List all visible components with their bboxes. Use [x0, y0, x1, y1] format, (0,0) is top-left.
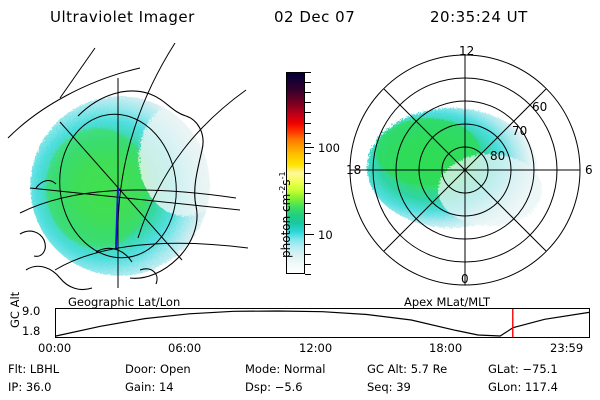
- status-label: IP:: [8, 380, 26, 394]
- status-label: GLon:: [488, 380, 525, 394]
- strip-chart-xtick-1: 06:00: [168, 341, 201, 355]
- colorbar-tick-label-100: 100: [318, 141, 340, 155]
- colorbar-label-main: photon cm: [279, 194, 293, 258]
- geographic-globe-svg: [0, 38, 250, 296]
- mlt-label-bottom: 0: [461, 272, 469, 286]
- mlt-label-right: 6: [585, 163, 593, 177]
- strip-chart-xtick-0: 00:00: [38, 341, 71, 355]
- polar-lat-label-60: 60: [532, 100, 547, 114]
- status-value: 39: [396, 380, 411, 394]
- status-flt: Flt: LBHL: [8, 362, 59, 376]
- status-value: −5.6: [275, 380, 303, 394]
- status-block: Flt: LBHLDoor: OpenMode: NormalGC Alt: 5…: [0, 362, 600, 398]
- polar-plot-svg: 60 70 80: [340, 40, 600, 295]
- mlt-label-left: 18: [346, 163, 361, 177]
- polar-lat-label-70: 70: [512, 124, 527, 138]
- header-date: 02 Dec 07: [274, 8, 355, 26]
- status-label: GLat:: [488, 362, 522, 376]
- strip-chart-xtick-4: 23:59: [550, 341, 583, 355]
- orbit-altitude-curve: [56, 311, 589, 336]
- strip-chart-ytick-bottom: 1.8: [22, 324, 40, 338]
- status-value: 5.7 Re: [411, 362, 448, 376]
- status-gain: Gain: 14: [125, 380, 174, 394]
- status-dsp: Dsp: −5.6: [245, 380, 303, 394]
- header-time: 20:35:24 UT: [430, 8, 528, 26]
- strip-chart-ytick-top: 9.0: [22, 304, 40, 318]
- status-value: 14: [159, 380, 174, 394]
- status-glon: GLon: 117.4: [488, 380, 558, 394]
- polar-lat-label-80: 80: [490, 149, 505, 163]
- strip-chart-plot[interactable]: [55, 308, 590, 338]
- status-glat: GLat: −75.1: [488, 362, 558, 376]
- status-value: LBHL: [30, 362, 59, 376]
- uvi-screenshot: Ultraviolet Imager 02 Dec 07 20:35:24 UT: [0, 0, 600, 400]
- strip-chart-xtick-3: 18:00: [429, 341, 462, 355]
- colorbar-tick-label-10: 10: [318, 228, 333, 242]
- status-label: Gain:: [125, 380, 159, 394]
- status-value: Open: [160, 362, 191, 376]
- status-gcalt: GC Alt: 5.7 Re: [367, 362, 447, 376]
- status-label: Mode:: [245, 362, 284, 376]
- status-label: Seq:: [367, 380, 396, 394]
- status-value: 117.4: [525, 380, 558, 394]
- header-instrument: Ultraviolet Imager: [50, 8, 195, 26]
- geographic-globe-panel[interactable]: [0, 38, 250, 296]
- strip-chart-xtick-2: 12:00: [299, 341, 332, 355]
- status-label: Dsp:: [245, 380, 275, 394]
- colorbar-major-tick-0: [305, 147, 314, 149]
- status-door: Door: Open: [125, 362, 191, 376]
- status-label: Flt:: [8, 362, 30, 376]
- right-panel-title: Apex MLat/MLT: [404, 295, 490, 309]
- status-value: 36.0: [26, 380, 52, 394]
- colorbar-ticks: [305, 72, 315, 274]
- colorbar-label-mid: s: [279, 179, 293, 185]
- strip-chart-svg: [56, 309, 589, 337]
- status-value: −75.1: [522, 362, 557, 376]
- colorbar-major-tick-1: [305, 234, 314, 236]
- polar-mlat-mlt-panel[interactable]: 60 70 80: [340, 40, 600, 295]
- colorbar-label-exp1: -2: [278, 186, 287, 194]
- status-seq: Seq: 39: [367, 380, 411, 394]
- polar-grid: [350, 55, 580, 285]
- status-mode: Mode: Normal: [245, 362, 325, 376]
- left-panel-title: Geographic Lat/Lon: [68, 295, 180, 309]
- colorbar-label-exp2: -1: [278, 171, 287, 179]
- status-ip: IP: 36.0: [8, 380, 51, 394]
- mlt-label-top: 12: [459, 44, 474, 58]
- status-value: Normal: [284, 362, 326, 376]
- status-label: GC Alt:: [367, 362, 411, 376]
- status-label: Door:: [125, 362, 160, 376]
